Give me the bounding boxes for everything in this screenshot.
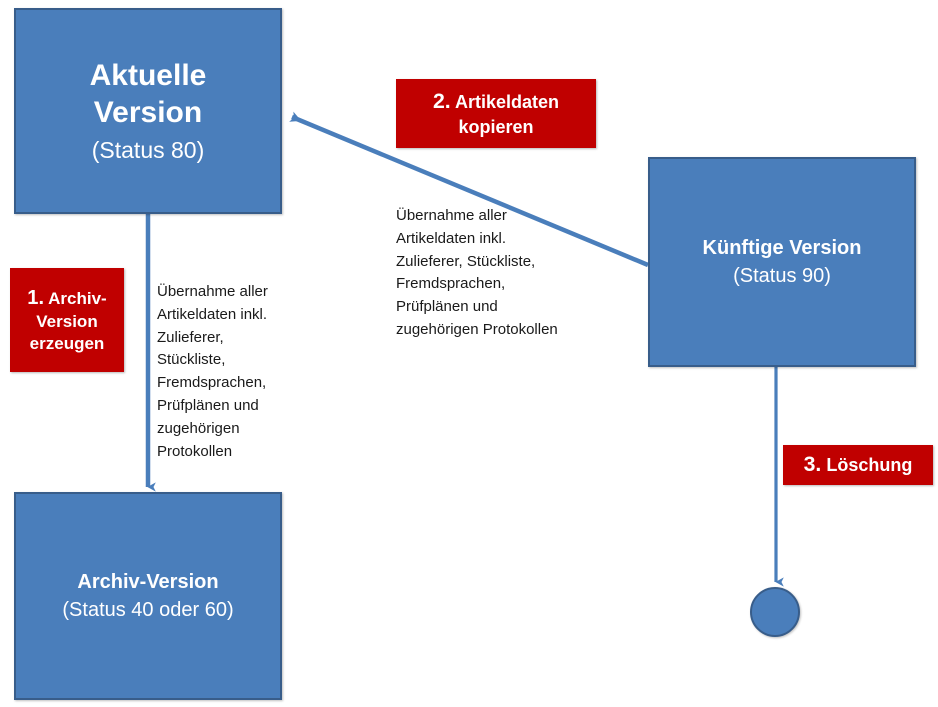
step-label-3-number: 3. (804, 452, 822, 476)
step-label-1-content: 1. Archiv-Version erzeugen (16, 285, 118, 355)
node-current-version-title: Aktuelle Version (90, 58, 207, 131)
node-future-version-subtitle: (Status 90) (733, 264, 831, 288)
node-current-version-subtitle: (Status 80) (92, 136, 205, 164)
step-label-2-number: 2. (433, 89, 451, 113)
node-future-version-title: Künftige Version (703, 236, 862, 260)
step-label-3[interactable]: 3. Löschung (783, 445, 933, 485)
node-current-version-title-line2: Version (90, 95, 207, 132)
step-label-2-content: 2. Artikeldaten kopieren (406, 88, 586, 139)
step-label-1-number: 1. (27, 287, 44, 309)
step-label-2-text: Artikeldaten kopieren (455, 92, 559, 137)
node-future-version[interactable]: Künftige Version (Status 90) (648, 157, 916, 367)
node-current-version[interactable]: Aktuelle Version (Status 80) (14, 8, 282, 214)
diagram-canvas: Aktuelle Version (Status 80) Künftige Ve… (0, 0, 938, 707)
node-archive-version[interactable]: Archiv-Version (Status 40 oder 60) (14, 492, 282, 700)
node-archive-version-subtitle: (Status 40 oder 60) (62, 598, 233, 622)
step-label-1[interactable]: 1. Archiv-Version erzeugen (10, 268, 124, 372)
step-label-2[interactable]: 2. Artikeldaten kopieren (396, 79, 596, 148)
end-node[interactable] (750, 587, 800, 637)
step-label-3-content: 3. Löschung (804, 451, 913, 479)
node-current-version-title-line1: Aktuelle (90, 58, 207, 95)
note-archive-transfer: Übernahme aller Artikeldaten inkl. Zulie… (157, 281, 297, 463)
note-copy-transfer: Übernahme aller Artikeldaten inkl. Zulie… (396, 205, 611, 342)
node-archive-version-title: Archiv-Version (77, 570, 218, 594)
step-label-3-text: Löschung (826, 455, 912, 475)
